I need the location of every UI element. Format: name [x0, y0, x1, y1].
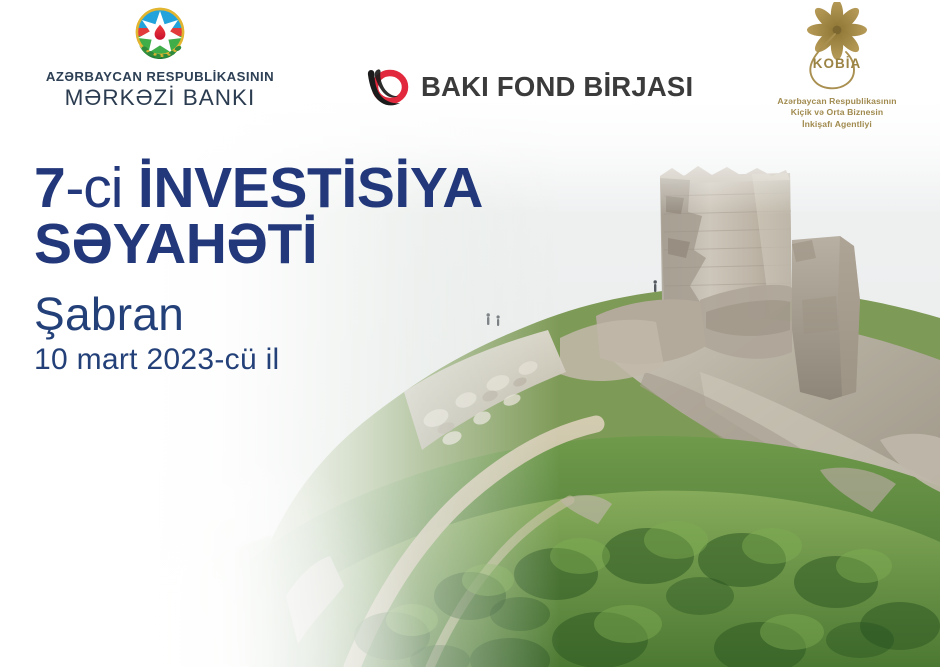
event-location: Şabran — [34, 291, 483, 338]
bfb-swoosh-ring-icon — [363, 63, 411, 111]
page-title: 7-ci İNVESTİSİYA SƏYAHƏTİ — [34, 160, 483, 273]
central-bank-line1: AZƏRBAYCAN RESPUBLİKASININ — [30, 70, 290, 84]
logo-baku-stock-exchange: BAKI FOND BİRJASI — [363, 63, 693, 111]
headline-ordinal-number: 7 — [34, 156, 65, 220]
kobia-subtitle: Azərbaycan Respublikasının Kiçik və Orta… — [742, 96, 932, 130]
partner-logo-bar: AZƏRBAYCAN RESPUBLİKASININ MƏRKƏZİ BANKI… — [0, 0, 940, 138]
kobia-subtitle-line2: Kiçik və Orta Biznesin — [742, 107, 932, 118]
kobia-subtitle-line1: Azərbaycan Respublikasının — [742, 96, 932, 107]
event-poster: AZƏRBAYCAN RESPUBLİKASININ MƏRKƏZİ BANKI… — [0, 0, 940, 667]
logo-kobia: KOBİA Azərbaycan Respublikasının Kiçik v… — [742, 2, 932, 130]
kobia-subtitle-line3: İnkişafı Agentliyi — [742, 119, 932, 130]
event-copy-block: 7-ci İNVESTİSİYA SƏYAHƏTİ Şabran 10 mart… — [34, 160, 483, 375]
headline-ordinal-suffix: -ci — [65, 156, 122, 220]
headline-line2: SƏYAHƏTİ — [34, 216, 483, 272]
bfb-wordmark: BAKI FOND BİRJASI — [421, 73, 693, 101]
headline-word-investisiya: İNVESTİSİYA — [138, 156, 483, 220]
logo-central-bank: AZƏRBAYCAN RESPUBLİKASININ MƏRKƏZİ BANKI — [30, 4, 290, 110]
event-date: 10 mart 2023-cü il — [34, 344, 483, 376]
azerbaijan-state-emblem-icon — [126, 4, 194, 66]
central-bank-line2: MƏRKƏZİ BANKI — [30, 85, 290, 110]
svg-text:KOBİA: KOBİA — [812, 56, 861, 71]
kobia-flower-loop-icon: KOBİA — [790, 2, 885, 94]
